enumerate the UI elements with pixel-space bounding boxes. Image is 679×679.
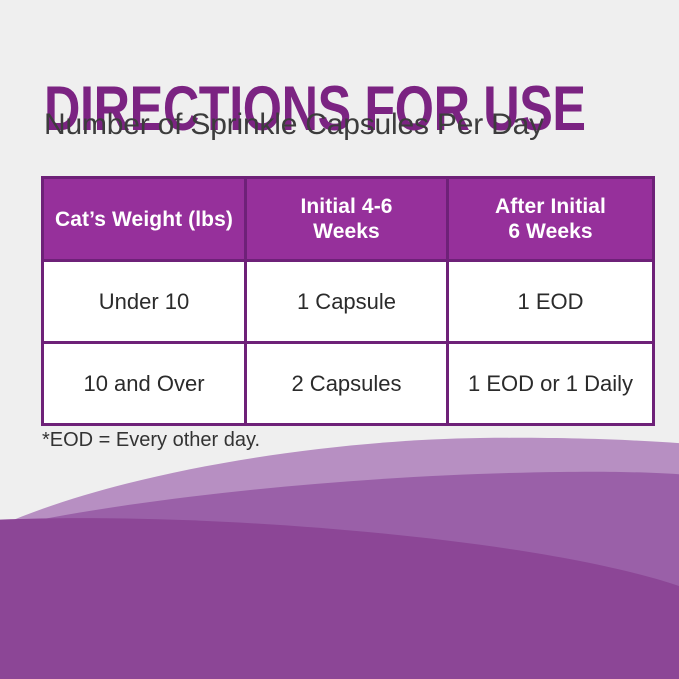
cell-weight-row1: Under 10	[43, 261, 246, 343]
column-header-after-initial: After Initial 6 Weeks	[448, 178, 654, 261]
table-header: Cat’s Weight (lbs) Initial 4-6 Weeks Aft…	[43, 178, 654, 261]
cell-after-row2: 1 EOD or 1 Daily	[448, 343, 654, 425]
dosage-table: Cat’s Weight (lbs) Initial 4-6 Weeks Aft…	[41, 176, 655, 426]
cell-after-row1: 1 EOD	[448, 261, 654, 343]
table-header-row: Cat’s Weight (lbs) Initial 4-6 Weeks Aft…	[43, 178, 654, 261]
table-body: Under 10 1 Capsule 1 EOD 10 and Over 2 C…	[43, 261, 654, 425]
table-row: 10 and Over 2 Capsules 1 EOD or 1 Daily	[43, 343, 654, 425]
column-header-after-initial-line2: 6 Weeks	[508, 220, 592, 243]
column-header-initial-weeks: Initial 4-6 Weeks	[246, 178, 448, 261]
product-label-panel: DIRECTIONS FOR USE Number of Sprinkle Ca…	[0, 0, 679, 679]
wave-band-mid	[0, 472, 679, 679]
column-header-initial-weeks-line1: Initial 4-6	[300, 195, 392, 218]
cell-weight-row2: 10 and Over	[43, 343, 246, 425]
wave-band-light	[0, 438, 679, 679]
footnote-eod-definition: *EOD = Every other day.	[42, 428, 260, 452]
cell-initial-row1: 1 Capsule	[246, 261, 448, 343]
cell-initial-row2: 2 Capsules	[246, 343, 448, 425]
column-header-after-initial-line1: After Initial	[495, 195, 606, 218]
page-subtitle: Number of Sprinkle Capsules Per Day	[44, 108, 544, 142]
table-row: Under 10 1 Capsule 1 EOD	[43, 261, 654, 343]
column-header-cat-weight: Cat’s Weight (lbs)	[43, 178, 246, 261]
column-header-initial-weeks-line2: Weeks	[313, 220, 380, 243]
wave-band-dark	[0, 518, 679, 679]
